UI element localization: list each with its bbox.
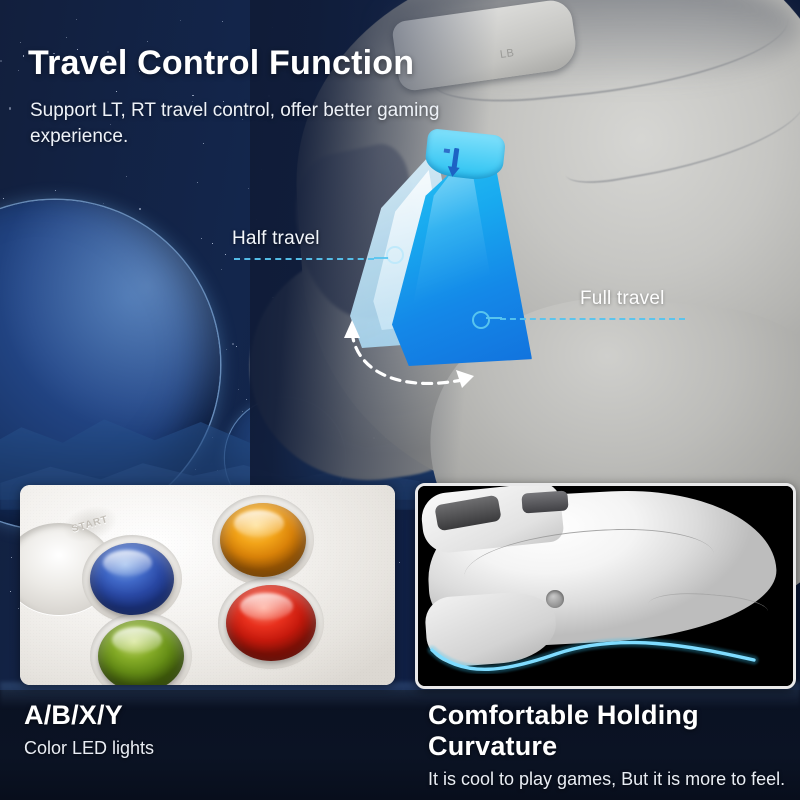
full-travel-label: Full travel xyxy=(580,288,665,310)
y-button[interactable] xyxy=(220,503,306,577)
grip-photo xyxy=(418,486,793,686)
b-button[interactable] xyxy=(226,585,316,661)
grip-bumper-button xyxy=(521,490,568,513)
grip-caption-subtitle: It is cool to play games, But it is more… xyxy=(428,767,788,791)
abxy-caption: A/B/X/Y Color LED lights xyxy=(24,700,404,760)
half-travel-marker-dot xyxy=(386,246,404,264)
page-title: Travel Control Function xyxy=(28,44,414,83)
abxy-photo-panel: START xyxy=(20,485,395,685)
grip-photo-panel xyxy=(415,483,796,689)
curvature-glow-line xyxy=(424,598,768,674)
abxy-caption-title: A/B/X/Y xyxy=(24,700,404,731)
half-travel-leader-stub xyxy=(374,257,388,259)
half-travel-label: Half travel xyxy=(232,228,320,250)
half-travel-leader-line xyxy=(234,258,374,260)
curved-dashed-arrow-icon xyxy=(338,318,498,398)
page-subtitle: Support LT, RT travel control, offer bet… xyxy=(30,98,460,150)
x-button[interactable] xyxy=(90,543,174,615)
grip-caption-title: Comfortable Holding Curvature xyxy=(428,700,788,762)
product-feature-poster: LB Half travel Full travel Travel Contro… xyxy=(0,0,800,800)
abxy-caption-subtitle: Color LED lights xyxy=(24,736,404,760)
grip-caption: Comfortable Holding Curvature It is cool… xyxy=(428,700,788,791)
a-button[interactable] xyxy=(98,620,184,685)
full-travel-leader-line xyxy=(500,318,685,320)
